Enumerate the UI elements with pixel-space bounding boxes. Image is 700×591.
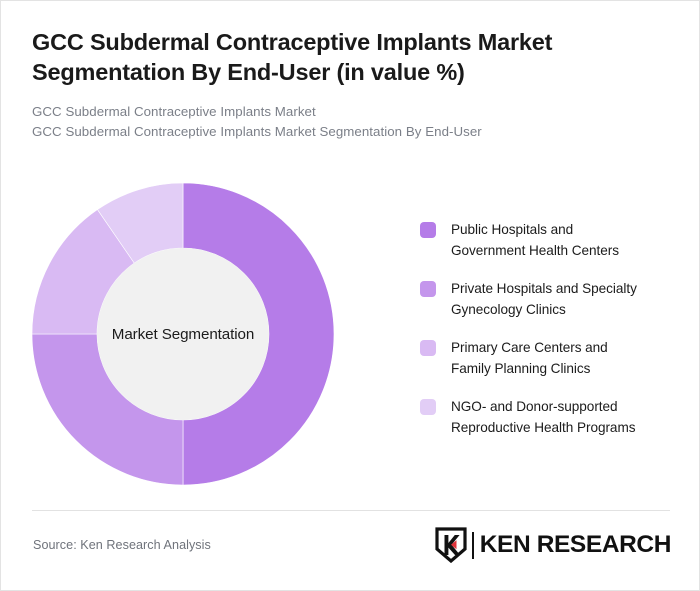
chart-subtitle: GCC Subdermal Contraceptive Implants Mar… bbox=[32, 102, 652, 142]
legend-item[interactable]: Private Hospitals and SpecialtyGynecolog… bbox=[420, 278, 682, 320]
page-title: GCC Subdermal Contraceptive Implants Mar… bbox=[32, 28, 652, 88]
subtitle-line-1: GCC Subdermal Contraceptive Implants Mar… bbox=[32, 102, 652, 122]
legend-item-label: NGO- and Donor-supportedReproductive Hea… bbox=[451, 396, 635, 438]
legend-swatch-icon bbox=[420, 281, 436, 297]
legend-item[interactable]: Primary Care Centers andFamily Planning … bbox=[420, 337, 682, 379]
donut-center-hole bbox=[97, 248, 269, 420]
donut-chart-svg bbox=[32, 183, 334, 485]
chart-card: GCC Subdermal Contraceptive Implants Mar… bbox=[0, 0, 700, 591]
logo-divider bbox=[472, 532, 474, 559]
legend-item[interactable]: NGO- and Donor-supportedReproductive Hea… bbox=[420, 396, 682, 438]
ken-research-logo: KEN RESEARCH bbox=[435, 527, 671, 563]
legend-item[interactable]: Public Hospitals andGovernment Health Ce… bbox=[420, 219, 682, 261]
legend-item-label: Public Hospitals andGovernment Health Ce… bbox=[451, 219, 619, 261]
logo-wordmark: KEN RESEARCH bbox=[480, 533, 671, 558]
legend-item-label: Private Hospitals and SpecialtyGynecolog… bbox=[451, 278, 637, 320]
chart-header: GCC Subdermal Contraceptive Implants Mar… bbox=[32, 28, 652, 142]
donut-chart: Market Segmentation bbox=[32, 183, 334, 485]
subtitle-line-2: GCC Subdermal Contraceptive Implants Mar… bbox=[32, 122, 652, 142]
legend-swatch-icon bbox=[420, 340, 436, 356]
legend-swatch-icon bbox=[420, 399, 436, 415]
legend-item-label: Primary Care Centers andFamily Planning … bbox=[451, 337, 608, 379]
chart-legend: Public Hospitals andGovernment Health Ce… bbox=[420, 219, 682, 439]
footer-divider bbox=[32, 510, 670, 511]
ken-research-shield-icon bbox=[435, 527, 467, 563]
source-note: Source: Ken Research Analysis bbox=[33, 538, 211, 552]
legend-swatch-icon bbox=[420, 222, 436, 238]
